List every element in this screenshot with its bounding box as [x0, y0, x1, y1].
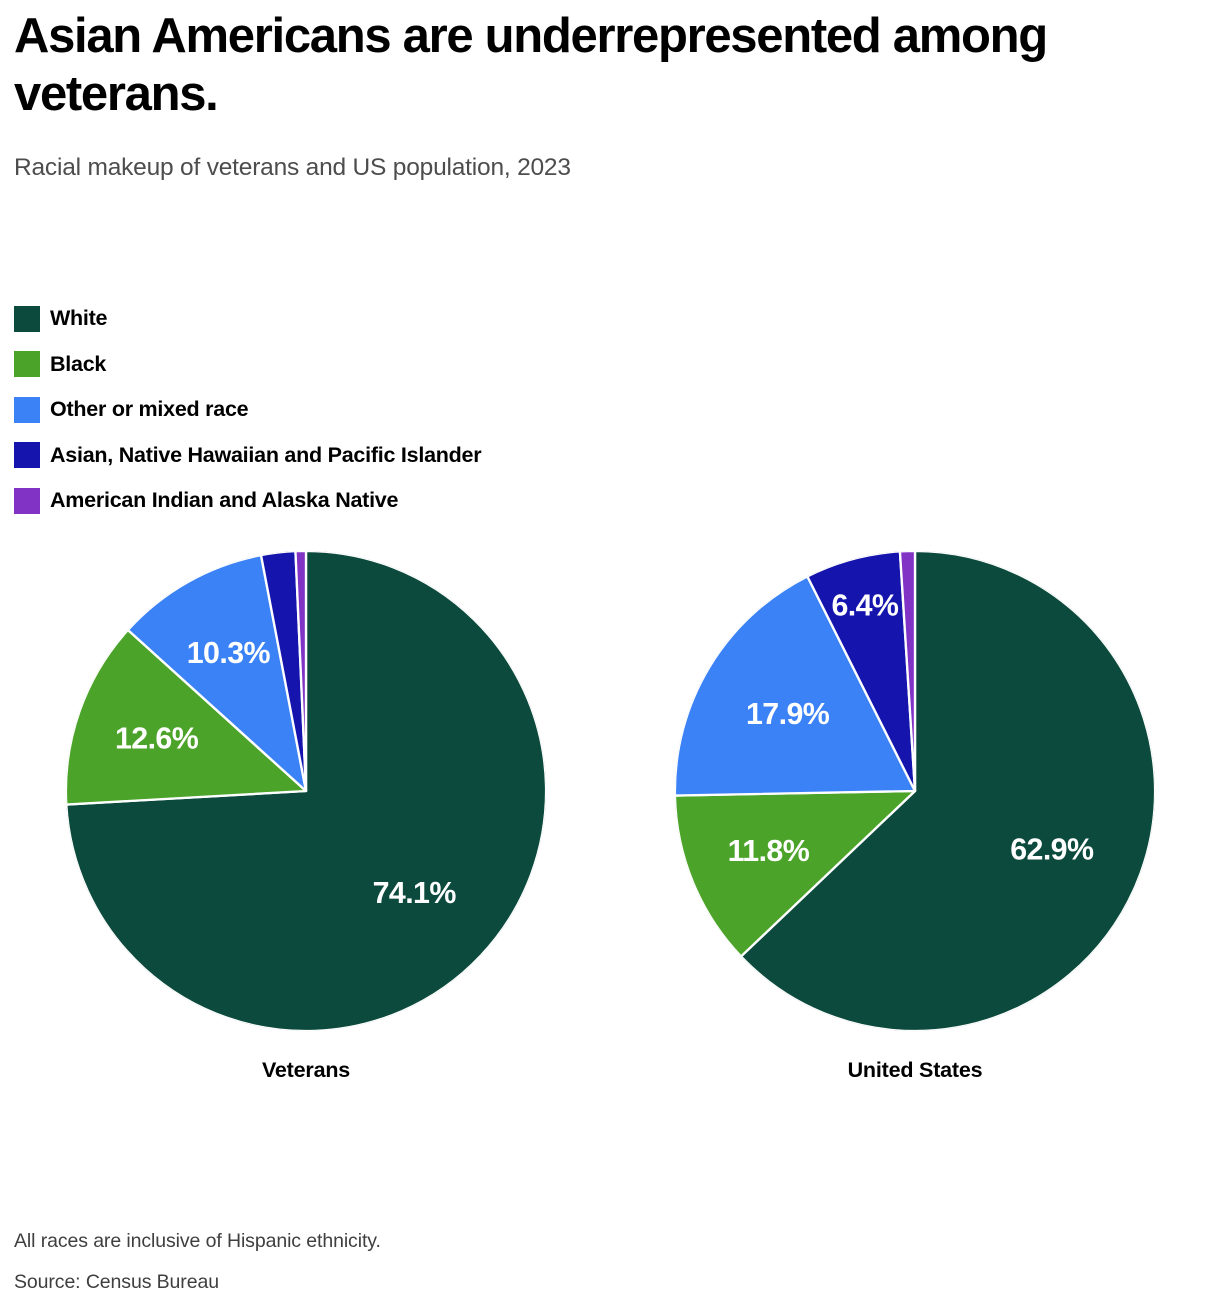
slice-value-label: 74.1%	[373, 876, 457, 910]
pie-chart-group: 74.1%12.6%10.3%Veterans62.9%11.8%17.9%6.…	[0, 546, 1220, 1106]
legend-label: Black	[50, 352, 106, 377]
pie-caption: Veterans	[46, 1058, 566, 1083]
slice-value-label: 62.9%	[1010, 833, 1094, 867]
legend-item: White	[14, 296, 481, 342]
footer: All races are inclusive of Hispanic ethn…	[14, 1232, 1114, 1292]
pie-caption: United States	[655, 1058, 1175, 1083]
infographic-page: Asian Americans are underrepresented amo…	[0, 0, 1220, 1292]
legend-swatch	[14, 351, 40, 377]
pie-svg: 74.1%12.6%10.3%	[61, 546, 551, 1036]
legend-label: White	[50, 306, 107, 331]
pie-svg: 62.9%11.8%17.9%6.4%	[670, 546, 1160, 1036]
page-subtitle: Racial makeup of veterans and US populat…	[14, 124, 1194, 182]
slice-value-label: 6.4%	[831, 589, 898, 623]
legend-item: Asian, Native Hawaiian and Pacific Islan…	[14, 433, 481, 479]
header: Asian Americans are underrepresented amo…	[14, 8, 1194, 182]
legend-label: Other or mixed race	[50, 397, 248, 422]
legend: WhiteBlackOther or mixed raceAsian, Nati…	[14, 296, 481, 524]
page-title: Asian Americans are underrepresented amo…	[14, 8, 1194, 124]
legend-label: American Indian and Alaska Native	[50, 488, 398, 513]
slice-value-label: 11.8%	[728, 834, 810, 868]
legend-item: Other or mixed race	[14, 387, 481, 433]
footnote: All races are inclusive of Hispanic ethn…	[14, 1232, 1114, 1252]
legend-item: American Indian and Alaska Native	[14, 478, 481, 524]
legend-swatch	[14, 397, 40, 423]
source-note: Source: Census Bureau	[14, 1252, 1114, 1293]
pie-chart-united-states: 62.9%11.8%17.9%6.4%United States	[655, 546, 1175, 1106]
slice-value-label: 10.3%	[187, 636, 271, 670]
legend-swatch	[14, 488, 40, 514]
legend-swatch	[14, 442, 40, 468]
legend-item: Black	[14, 342, 481, 388]
legend-swatch	[14, 306, 40, 332]
slice-value-label: 17.9%	[746, 697, 830, 731]
pie-chart-veterans: 74.1%12.6%10.3%Veterans	[46, 546, 566, 1106]
slice-value-label: 12.6%	[115, 721, 199, 755]
legend-label: Asian, Native Hawaiian and Pacific Islan…	[50, 443, 481, 468]
